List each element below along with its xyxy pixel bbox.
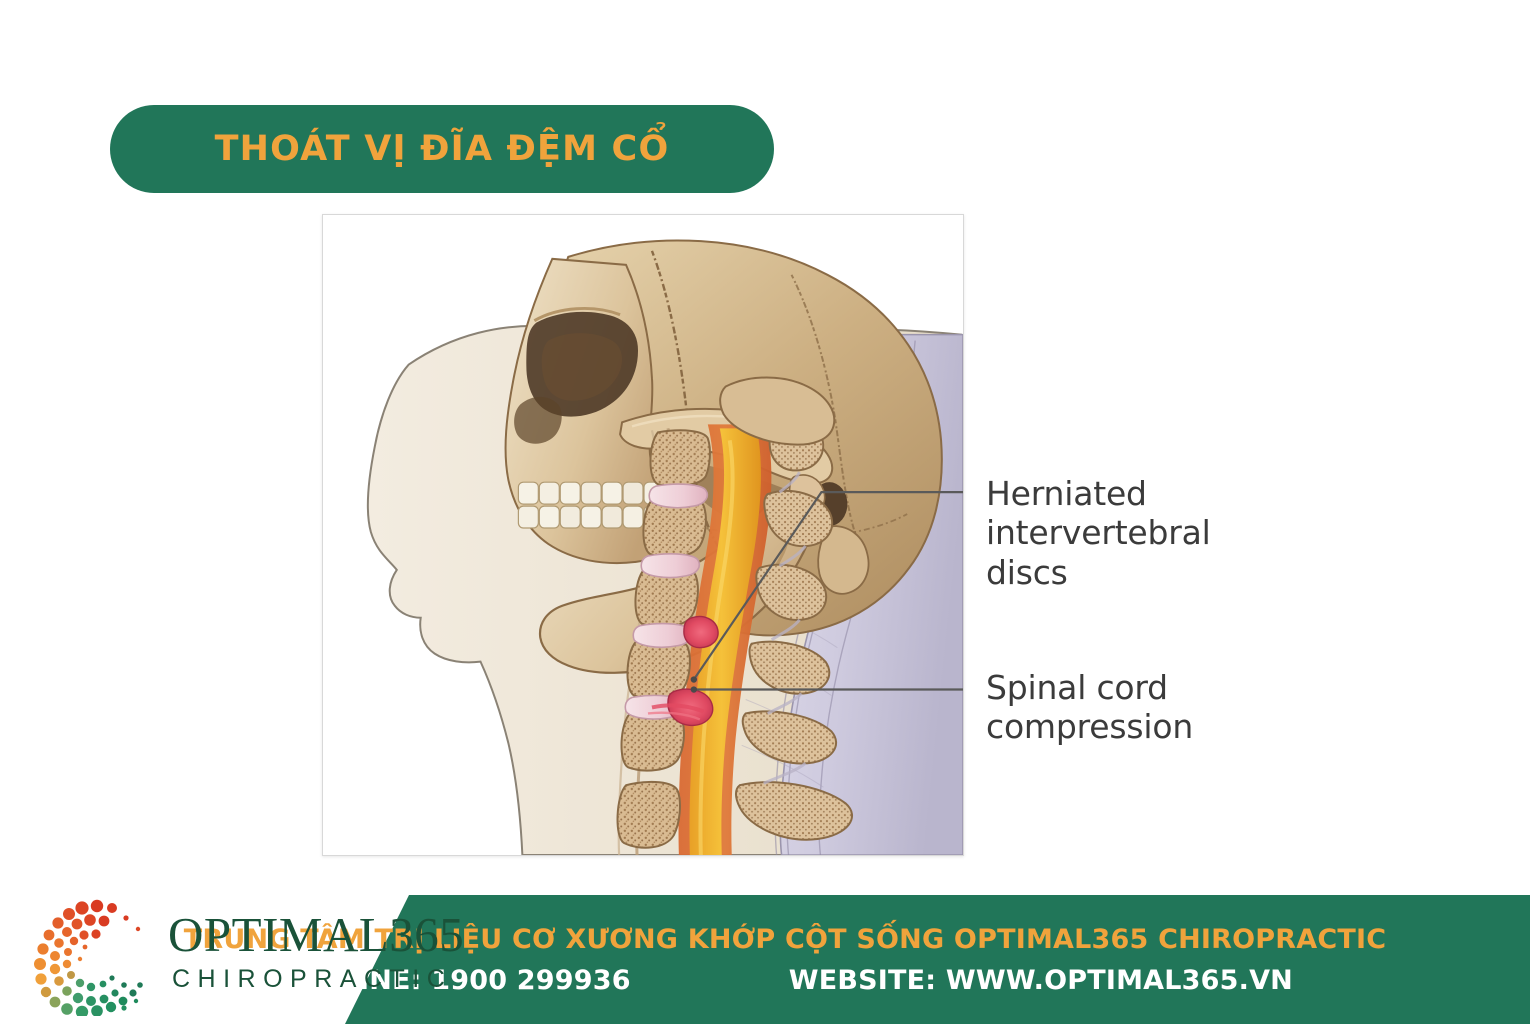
upper-teeth — [518, 482, 662, 504]
disc-c2-c3 — [649, 484, 707, 508]
logo-subtitle: CHIROPRACTIC — [172, 967, 464, 992]
brand-logo[interactable]: OPTIMAL365 CHIROPRACTIC — [28, 896, 348, 1016]
cervical-spine-illustration — [323, 215, 963, 855]
vertebra-body-c7 — [618, 782, 680, 848]
callout-label-spinal-cord-compression: Spinal cord compression — [986, 668, 1286, 747]
footer-website[interactable]: WEBSITE: WWW.OPTIMAL365.VN — [789, 965, 1293, 996]
disc-c4-c5 — [633, 624, 691, 648]
page-title-pill: THOÁT VỊ ĐĨA ĐỆM CỔ — [110, 105, 774, 193]
callout-label-herniated-discs: Herniated intervertebral discs — [986, 474, 1286, 592]
herniated-disc-upper — [684, 616, 718, 647]
leader-spinal-endpoint — [691, 686, 697, 692]
leader-herniated-endpoint — [691, 676, 697, 682]
logo-wordmark: OPTIMAL365 — [168, 910, 464, 959]
logo-wordmark-block: OPTIMAL365 CHIROPRACTIC — [168, 910, 464, 992]
lower-teeth — [518, 506, 662, 528]
page-title: THOÁT VỊ ĐĨA ĐỆM CỔ — [215, 132, 670, 167]
poster-canvas: THOÁT VỊ ĐĨA ĐỆM CỔ — [0, 0, 1530, 1024]
spiral-dots — [34, 900, 143, 1016]
disc-c3-c4 — [641, 554, 699, 578]
anatomy-illustration-panel — [322, 214, 964, 856]
vertebra-body-c2 — [650, 430, 709, 486]
